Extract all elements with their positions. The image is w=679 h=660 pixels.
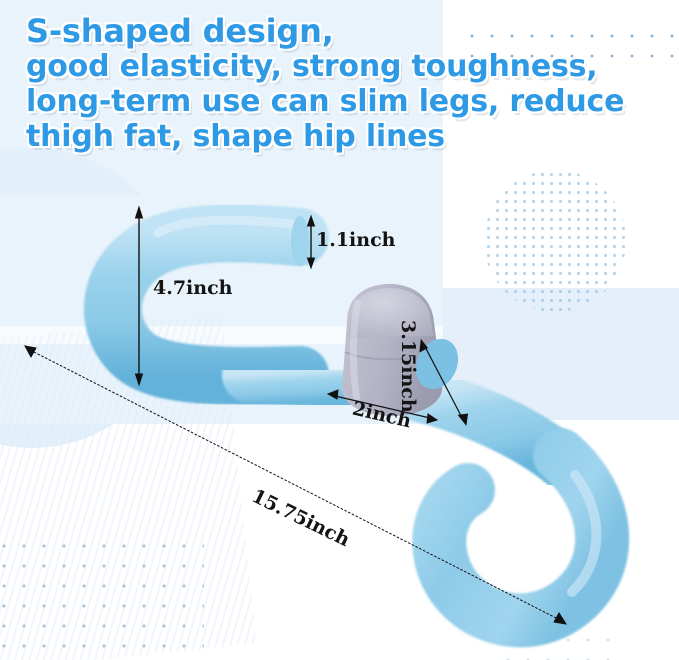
product-illustration [0,0,679,660]
product-lower-hook [439,455,602,620]
measurement-label-3-15inch: 3.15inch [397,320,419,413]
measurement-label-4-7inch: 4.7inch [153,277,232,299]
measurement-label-1-1inch: 1.1inch [316,229,395,251]
product-infographic-image: S-shaped design, good elasticity, strong… [0,0,679,660]
tube-end-cap [291,216,309,266]
